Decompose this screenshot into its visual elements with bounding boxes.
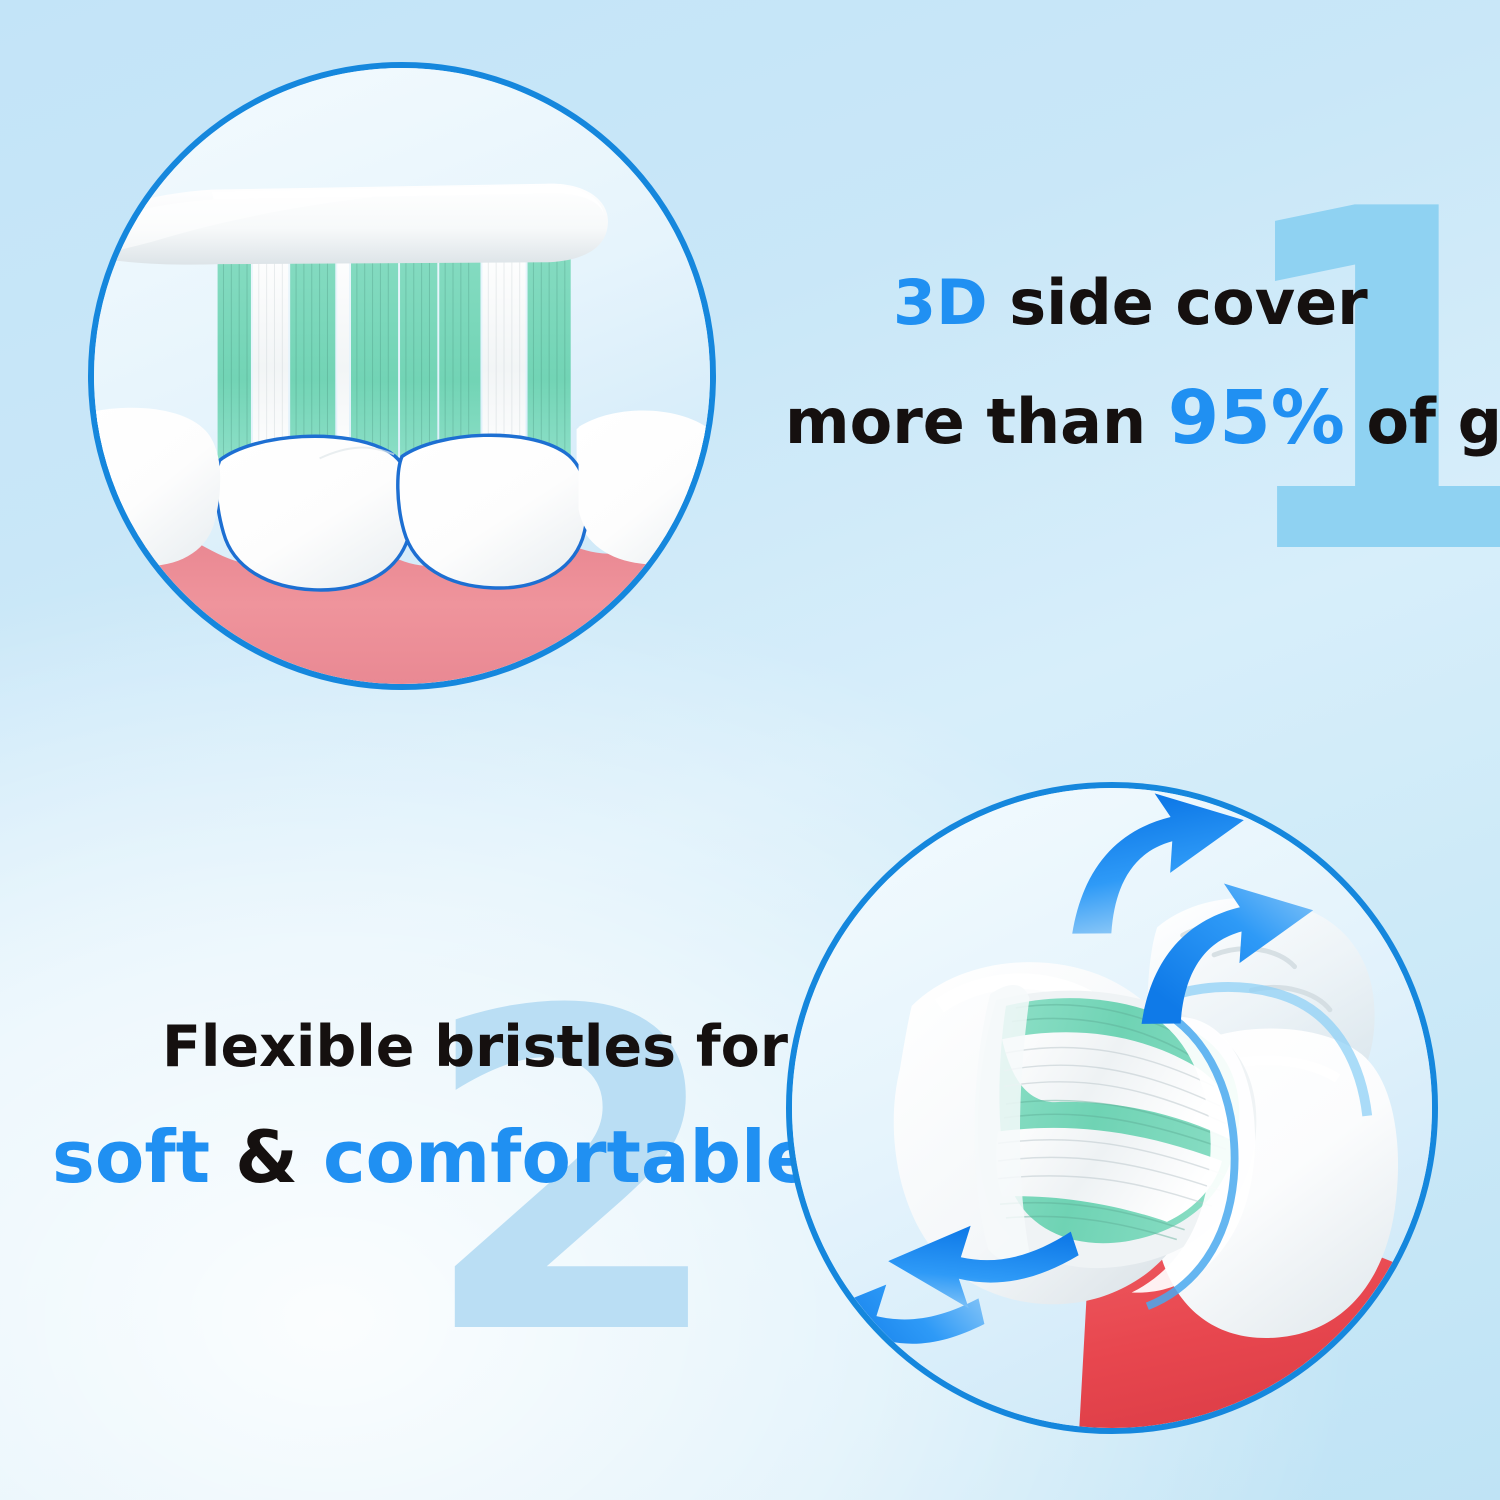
feature-1-line2-post: of gums <box>1345 385 1500 458</box>
feature-1-line1-rest: side cover <box>988 266 1368 339</box>
feature-2-line1-text: Flexible bristles for <box>162 1014 788 1080</box>
feature-2-illustration-circle <box>786 782 1438 1434</box>
feature-1-line2-pre: more than <box>785 385 1168 458</box>
feature-2-ampersand: & <box>210 1115 323 1199</box>
feature-2-highlight-comfortable: comfortable <box>323 1115 815 1199</box>
feature-1-highlight-3d: 3D <box>893 266 988 339</box>
product-feature-infographic: 1 2 <box>0 0 1500 1500</box>
feature-1-highlight-95: 95% <box>1168 375 1345 461</box>
feature-1-headline-line-1: 3D side cover <box>893 270 1368 335</box>
feature-2-headline-line-2: soft & comfortable <box>52 1120 815 1196</box>
feature-2-highlight-soft: soft <box>52 1115 210 1199</box>
toothbrush-head <box>94 184 608 265</box>
feature-2-headline-line-1: Flexible bristles for <box>162 1018 788 1078</box>
feature-1-headline-line-2: more than 95% of gums <box>785 380 1500 458</box>
toothbrush-head-over-teeth-illustration <box>94 68 710 684</box>
flexible-bristles-illustration <box>792 788 1432 1428</box>
feature-1-illustration-circle <box>88 62 716 690</box>
